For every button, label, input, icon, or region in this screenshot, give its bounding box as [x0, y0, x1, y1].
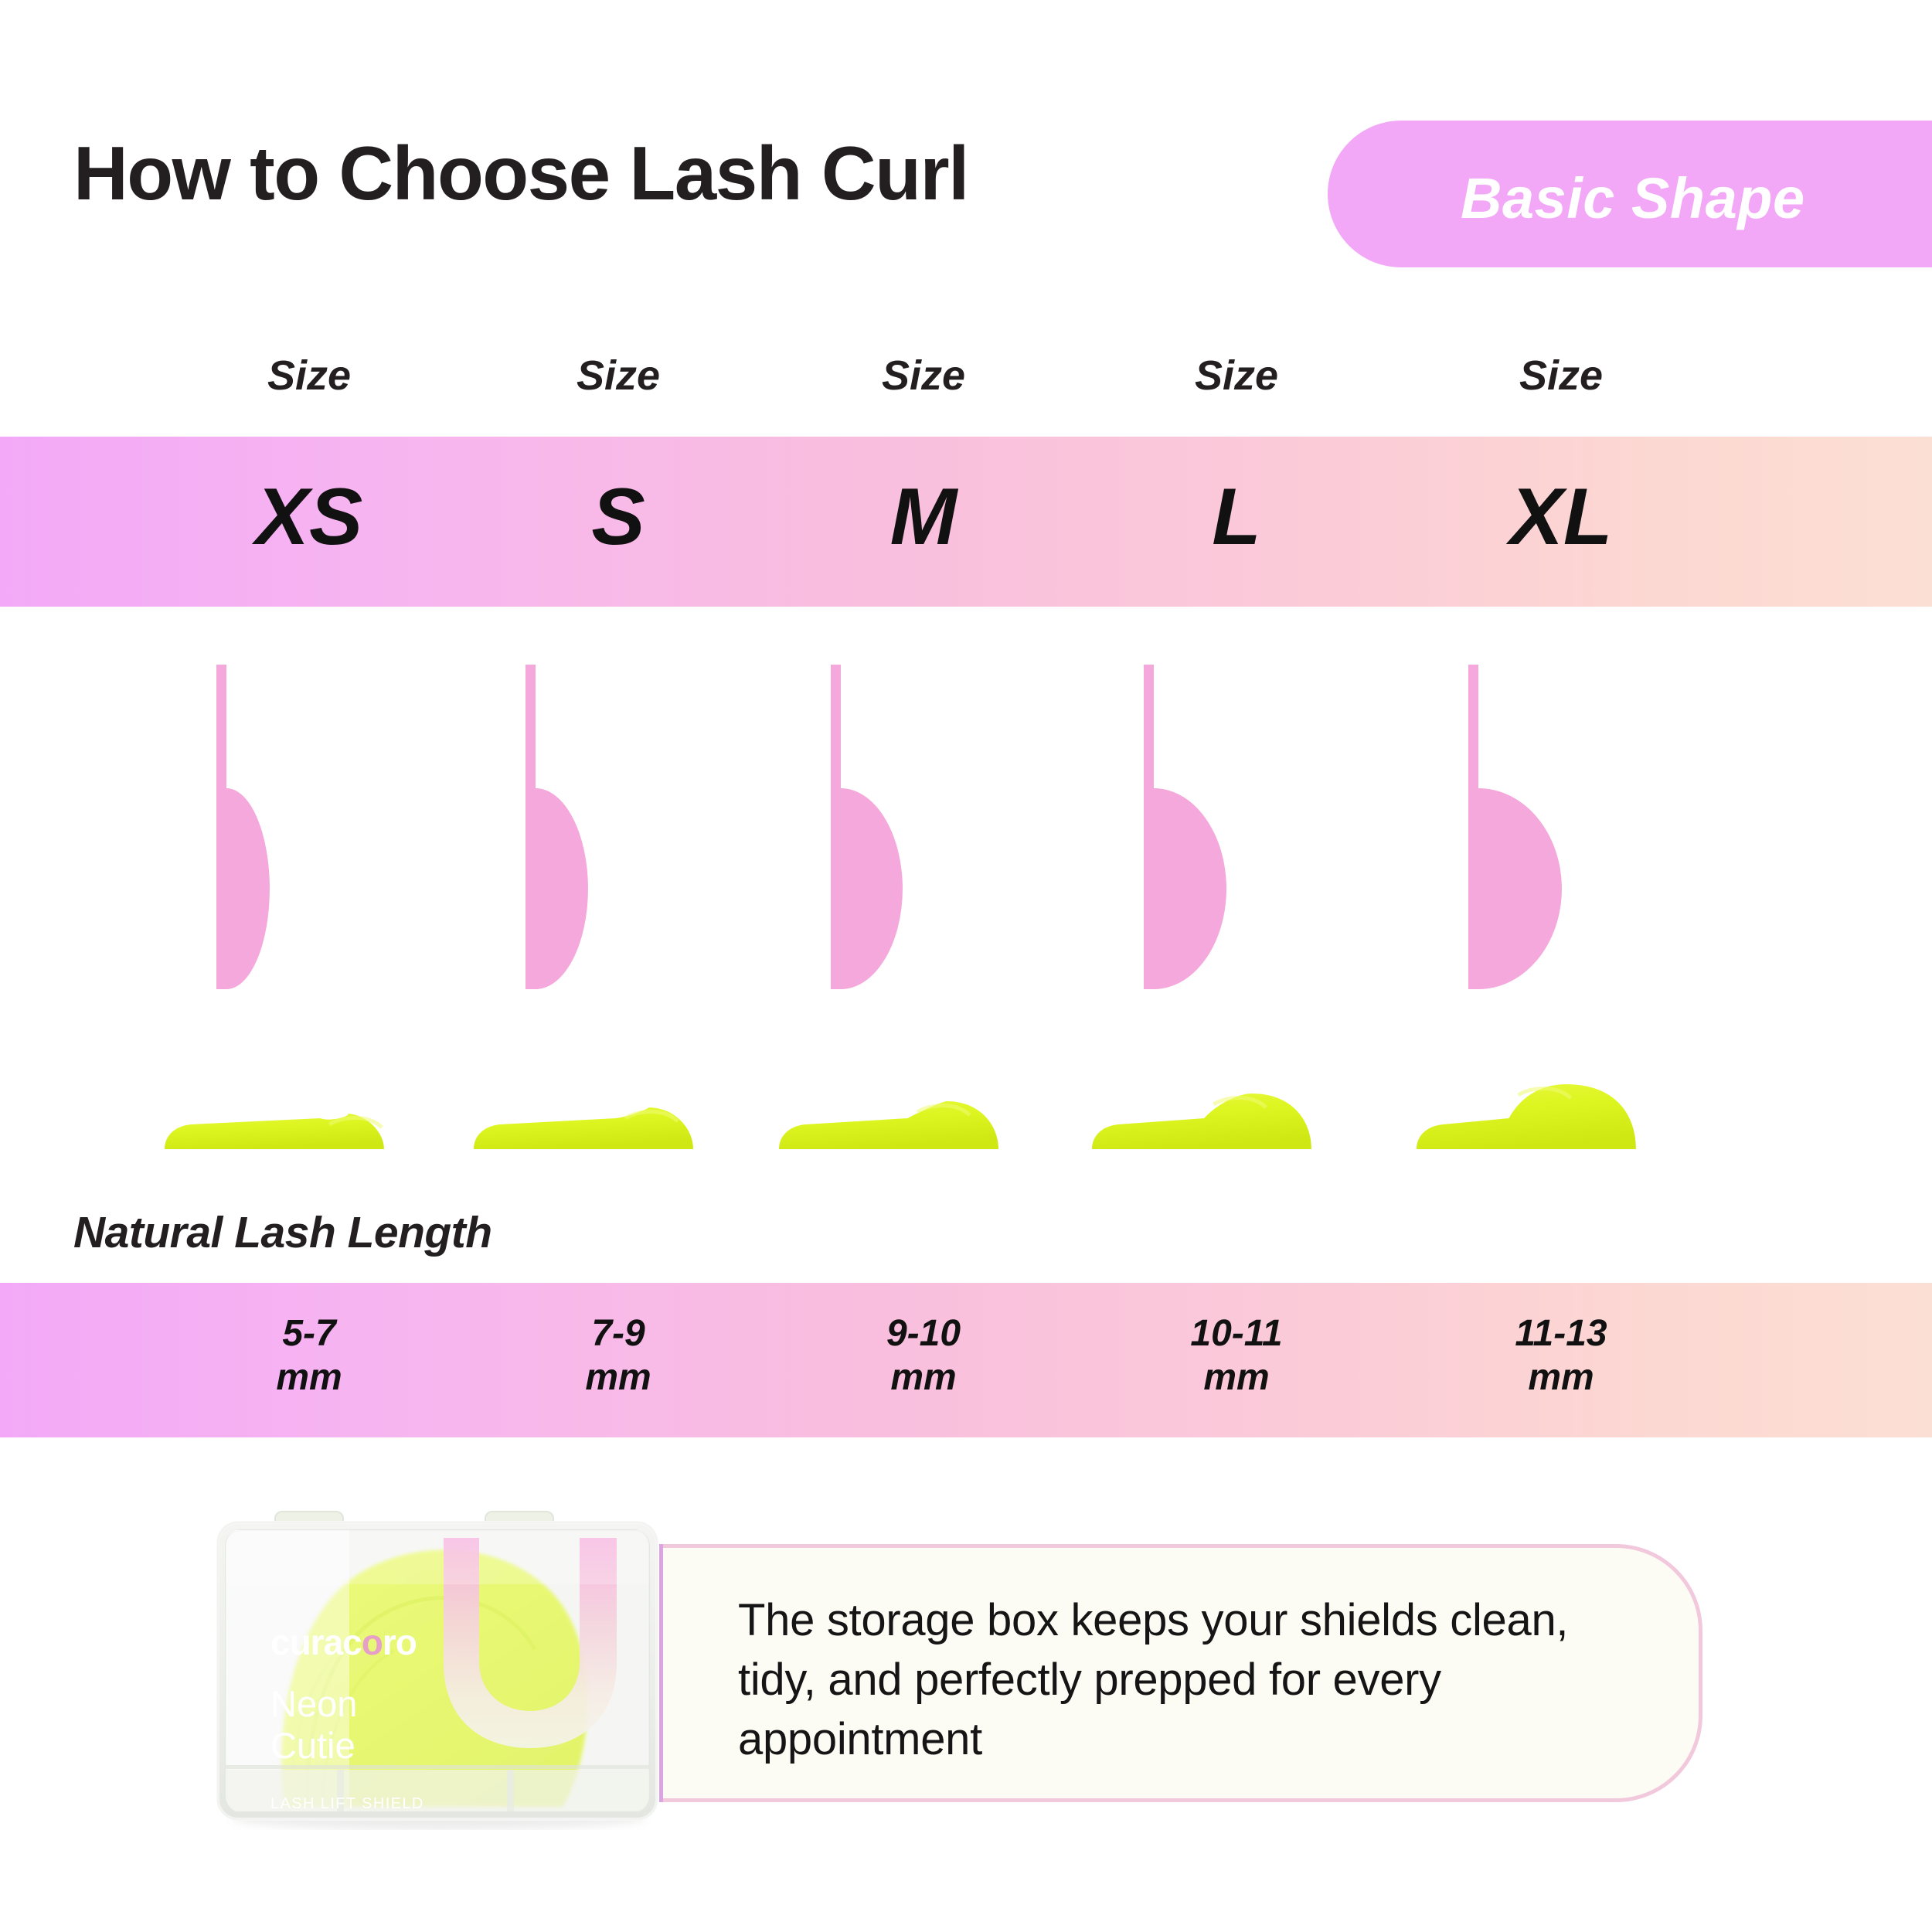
- basic-shape-badge-label: Basic Shape: [1461, 165, 1805, 231]
- brand-name-text-end: ro: [383, 1622, 417, 1662]
- size-letter-xl: XL: [1445, 471, 1677, 563]
- size-letter-xs: XS: [193, 471, 425, 563]
- lash-length-cell-xs: 5-7mm: [193, 1312, 425, 1400]
- badge-shape-en: Basic: [468, 1831, 510, 1850]
- callout-text: The storage box keeps your shields clean…: [738, 1590, 1604, 1769]
- badge-count-number: 5: [532, 1828, 552, 1870]
- size-word-xl: Size: [1445, 352, 1677, 400]
- product-description-fr-2: REHAUSSEMENT: [270, 1855, 413, 1872]
- lash-length-unit: mm: [1445, 1356, 1677, 1400]
- product-description-fr-1: COUSSINETS POUR: [270, 1833, 436, 1850]
- lash-shield-xl: [1410, 1055, 1642, 1155]
- badge-count-en: Pairs: [563, 1831, 601, 1850]
- product-description-fr-3: DE CILS: [270, 1876, 338, 1893]
- lash-length-value: 7-9: [502, 1312, 734, 1356]
- curl-shape-l: [1144, 665, 1231, 989]
- badge-shape-fr: Basique: [468, 1853, 530, 1872]
- badge-count-fr: Paires: [563, 1853, 611, 1872]
- size-word-s: Size: [502, 352, 734, 400]
- lash-length-value: 10-11: [1121, 1312, 1352, 1356]
- page-title: How to Choose Lash Curl: [73, 130, 968, 217]
- lash-length-unit: mm: [502, 1356, 734, 1400]
- size-word-xs: Size: [193, 352, 425, 400]
- lash-shield-l: [1086, 1055, 1318, 1155]
- size-letter-l: L: [1121, 471, 1352, 563]
- curl-shape-m: [831, 665, 907, 989]
- curl-shape-icon: [444, 1825, 464, 1869]
- curl-shape-xl: [1468, 665, 1566, 989]
- lash-shield-m: [773, 1055, 1005, 1155]
- lash-length-cell-xl: 11-13mm: [1445, 1312, 1677, 1400]
- brand-name: curacoro: [270, 1621, 417, 1663]
- lash-length-unit: mm: [193, 1356, 425, 1400]
- lash-length-cell-s: 7-9mm: [502, 1312, 734, 1400]
- lash-length-value: 5-7: [193, 1312, 425, 1356]
- lash-length-unit: mm: [808, 1356, 1039, 1400]
- size-word-m: Size: [808, 352, 1039, 400]
- size-letter-m: M: [808, 471, 1039, 563]
- badge-basic-shape: Basic Basique: [468, 1830, 530, 1874]
- lash-length-cell-l: 10-11mm: [1121, 1312, 1352, 1400]
- product-name-line2: Cutie: [270, 1725, 355, 1766]
- lash-length-unit: mm: [1121, 1356, 1352, 1400]
- lash-length-value: 9-10: [808, 1312, 1039, 1356]
- brand-accent-o: o: [362, 1622, 383, 1662]
- lash-length-cell-m: 9-10mm: [808, 1312, 1039, 1400]
- size-word-l: Size: [1121, 352, 1352, 400]
- size-band: XSSMLXL: [0, 437, 1932, 607]
- size-letter-s: S: [502, 471, 734, 563]
- product-storage-box: curacoro Neon Cutie LASH LIFT SHIELD COU…: [199, 1498, 674, 1830]
- lash-length-heading: Natural Lash Length: [73, 1207, 492, 1258]
- product-description-en: LASH LIFT SHIELD: [270, 1795, 424, 1813]
- product-description-fr: COUSSINETS POUR REHAUSSEMENT DE CILS: [270, 1832, 436, 1896]
- storage-box-illustration: [199, 1498, 674, 1830]
- product-name: Neon Cutie: [270, 1683, 357, 1767]
- curl-shape-xs: [216, 665, 274, 989]
- badge-pairs-count: Pairs Paires: [563, 1830, 611, 1874]
- shield-row: [0, 1047, 1932, 1155]
- lash-length-value: 11-13: [1445, 1312, 1677, 1356]
- size-label-row: SizeSizeSizeSizeSize: [0, 352, 1932, 437]
- lash-shield-xs: [158, 1055, 390, 1155]
- brand-name-text: curac: [270, 1622, 362, 1662]
- lash-shield-s: [468, 1055, 699, 1155]
- header: How to Choose Lash Curl Basic Shape: [0, 0, 1932, 309]
- curl-shapes-row: [0, 665, 1932, 997]
- lash-length-band: 5-7mm7-9mm9-10mm10-11mm11-13mm: [0, 1283, 1932, 1437]
- product-name-line1: Neon: [270, 1683, 357, 1724]
- curl-shape-s: [526, 665, 593, 989]
